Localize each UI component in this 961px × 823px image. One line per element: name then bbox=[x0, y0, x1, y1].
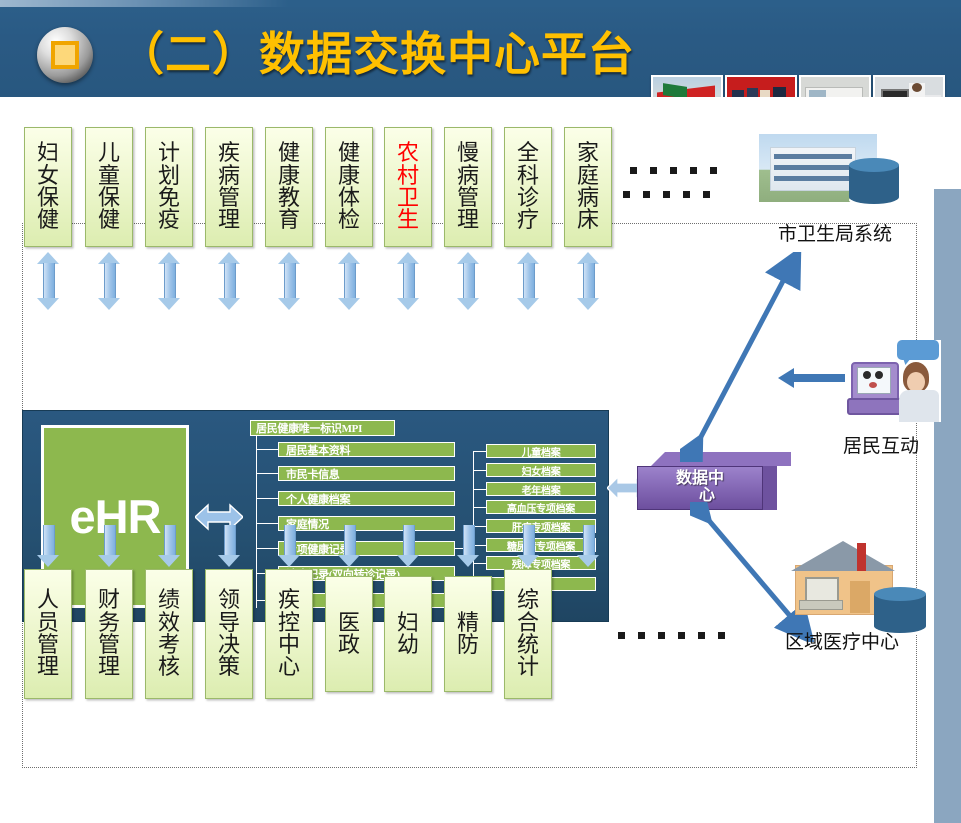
top-box-8[interactable]: 全科诊疗 bbox=[504, 127, 552, 247]
ehr-right-item-0[interactable]: 儿童档案 bbox=[486, 444, 596, 458]
ehr-mpi-node[interactable]: 居民健康唯一标识MPI bbox=[250, 420, 395, 436]
top-box-4[interactable]: 健康教育 bbox=[265, 127, 313, 247]
arrow-down-2 bbox=[158, 525, 180, 567]
bottom-box-label-3: 领导决策 bbox=[217, 589, 241, 679]
node-label-resident-interaction: 居民互动 bbox=[843, 431, 919, 458]
arrow-down-7 bbox=[457, 525, 479, 567]
page-title: （二）数据交换中心平台 bbox=[118, 22, 635, 88]
top-box-5[interactable]: 健康体检 bbox=[325, 127, 373, 247]
arrow-down-6 bbox=[397, 525, 419, 567]
right-blue-sidebar bbox=[934, 189, 961, 823]
ehr-left-tick-0 bbox=[256, 449, 278, 450]
ehr-left-item-1[interactable]: 市民卡信息 bbox=[278, 466, 455, 481]
bottom-box-2[interactable]: 绩效考核 bbox=[145, 569, 193, 699]
top-box-label-3: 疾病管理 bbox=[217, 142, 241, 232]
ehr-left-item-0[interactable]: 居民基本资料 bbox=[278, 442, 455, 457]
bottom-box-3[interactable]: 领导决策 bbox=[205, 569, 253, 699]
arrow-down-1 bbox=[98, 525, 120, 567]
node-label-health-bureau: 市卫生局系统 bbox=[778, 219, 892, 246]
ehr-left-label-1: 市民卡信息 bbox=[286, 466, 340, 482]
ehr-left-label-2: 个人健康档案 bbox=[286, 491, 350, 507]
arrow-updown-4 bbox=[278, 252, 300, 310]
top-row-more-ellipsis bbox=[623, 191, 710, 198]
ehr-right-label-2: 老年档案 bbox=[522, 482, 561, 497]
ehr-left-trunk bbox=[256, 436, 257, 608]
ehr-left-tick-2 bbox=[256, 498, 278, 499]
top-box-0[interactable]: 妇女保健 bbox=[24, 127, 72, 247]
top-box-2[interactable]: 计划免疫 bbox=[145, 127, 193, 247]
bottom-box-8[interactable]: 综合统计 bbox=[504, 569, 552, 699]
top-box-label-5: 健康体检 bbox=[337, 142, 361, 232]
bottom-box-label-2: 绩效考核 bbox=[157, 589, 181, 679]
top-box-label-4: 健康教育 bbox=[277, 142, 301, 232]
diagram-canvas: 妇女保健 儿童保健 计划免疫 疾病管理 健康教育 健康体检 农村卫生 慢病管理 … bbox=[0, 97, 961, 726]
right-top-ellipsis bbox=[630, 167, 717, 174]
ehr-right-item-1[interactable]: 妇女档案 bbox=[486, 463, 596, 477]
bottom-box-5[interactable]: 医政 bbox=[325, 576, 373, 692]
ehr-right-tick-2 bbox=[473, 489, 486, 490]
bottom-box-1[interactable]: 财务管理 bbox=[85, 569, 133, 699]
house-computer-database-icon bbox=[795, 537, 935, 637]
orange-square-glyph bbox=[51, 41, 79, 69]
top-box-1[interactable]: 儿童保健 bbox=[85, 127, 133, 247]
arrow-updown-9 bbox=[577, 252, 599, 310]
arrow-updown-8 bbox=[517, 252, 539, 310]
ehr-right-trunk bbox=[473, 451, 474, 591]
arrow-down-9 bbox=[577, 525, 599, 567]
bottom-box-6[interactable]: 妇幼 bbox=[384, 576, 432, 692]
ehr-right-tick-1 bbox=[473, 470, 486, 471]
top-box-label-9: 家庭病床 bbox=[576, 142, 600, 232]
top-box-6[interactable]: 农村卫生 bbox=[384, 127, 432, 247]
ehr-right-tick-0 bbox=[473, 451, 486, 452]
ehr-right-label-3: 高血压专项档案 bbox=[507, 500, 575, 515]
arrow-updown-7 bbox=[457, 252, 479, 310]
arrow-updown-5 bbox=[338, 252, 360, 310]
ehr-mpi-label: 居民健康唯一标识MPI bbox=[256, 420, 362, 436]
arrow-updown-3 bbox=[218, 252, 240, 310]
arrow-down-3 bbox=[218, 525, 240, 567]
bottom-box-label-5: 医政 bbox=[337, 612, 361, 657]
ehr-right-label-0: 儿童档案 bbox=[522, 444, 561, 459]
arrow-updown-2 bbox=[158, 252, 180, 310]
node-label-regional-medical-center: 区域医疗中心 bbox=[785, 627, 899, 654]
ehr-left-item-3[interactable]: 家庭情况 bbox=[278, 516, 455, 531]
bottom-box-label-8: 综合统计 bbox=[516, 589, 540, 679]
ehr-right-tick-3 bbox=[473, 507, 486, 508]
top-box-label-2: 计划免疫 bbox=[157, 142, 181, 232]
top-box-label-8: 全科诊疗 bbox=[516, 142, 540, 232]
ehr-right-label-1: 妇女档案 bbox=[522, 463, 561, 478]
bottom-box-7[interactable]: 精防 bbox=[444, 576, 492, 692]
bottom-box-label-0: 人员管理 bbox=[36, 589, 60, 679]
top-box-label-7: 慢病管理 bbox=[456, 142, 480, 232]
arrow-down-4 bbox=[278, 525, 300, 567]
top-box-label-6: 农村卫生 bbox=[396, 142, 420, 232]
top-box-label-1: 儿童保健 bbox=[97, 142, 121, 232]
bottom-box-label-6: 妇幼 bbox=[396, 612, 420, 657]
square-bullet-icon bbox=[37, 27, 93, 83]
arrow-updown-6 bbox=[397, 252, 419, 310]
bottom-box-label-4: 疾控中心 bbox=[277, 589, 301, 679]
ehr-right-item-2[interactable]: 老年档案 bbox=[486, 482, 596, 496]
bottom-box-label-7: 精防 bbox=[456, 612, 480, 657]
header-top-stripe bbox=[0, 0, 961, 7]
ehr-left-item-2[interactable]: 个人健康档案 bbox=[278, 491, 455, 506]
bottom-box-4[interactable]: 疾控中心 bbox=[265, 569, 313, 699]
arrow-down-0 bbox=[37, 525, 59, 567]
arrow-down-8 bbox=[517, 525, 539, 567]
arrow-datacenter-to-health-bureau bbox=[680, 252, 810, 462]
arrow-updown-1 bbox=[98, 252, 120, 310]
data-center-label-line1: 数据中 bbox=[676, 471, 724, 488]
bottom-box-0[interactable]: 人员管理 bbox=[24, 569, 72, 699]
ehr-left-tick-4 bbox=[256, 548, 278, 549]
ehr-left-label-0: 居民基本资料 bbox=[286, 442, 350, 458]
bottom-box-label-1: 财务管理 bbox=[97, 589, 121, 679]
top-box-9[interactable]: 家庭病床 bbox=[564, 127, 612, 247]
ehr-left-item-4[interactable]: 专项健康记录 bbox=[278, 541, 455, 556]
arrow-updown-0 bbox=[37, 252, 59, 310]
ehr-left-tick-3 bbox=[256, 523, 278, 524]
resident-computer-user-icon bbox=[845, 340, 941, 422]
ehr-right-item-3[interactable]: 高血压专项档案 bbox=[486, 500, 596, 514]
ehr-left-tick-1 bbox=[256, 473, 278, 474]
top-box-7[interactable]: 慢病管理 bbox=[444, 127, 492, 247]
top-box-3[interactable]: 疾病管理 bbox=[205, 127, 253, 247]
top-box-label-0: 妇女保健 bbox=[36, 142, 60, 232]
database-cylinder-icon-1 bbox=[846, 155, 902, 207]
arrow-down-5 bbox=[338, 525, 360, 567]
